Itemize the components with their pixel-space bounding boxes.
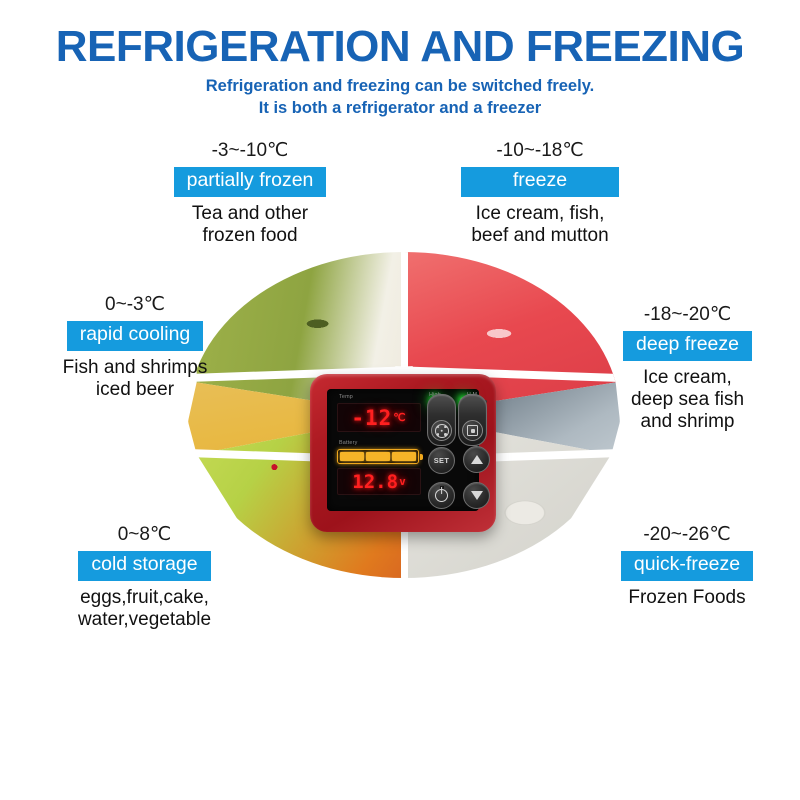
power-icon	[435, 489, 448, 502]
mode-description: eggs,fruit,cake, water,vegetable	[42, 587, 247, 632]
mode-desc-line-1: Ice cream, fish,	[440, 203, 640, 225]
mode-desc-line-2: water,vegetable	[42, 609, 247, 631]
temperature-display: -12℃	[337, 403, 421, 432]
battery-cell	[392, 452, 416, 461]
battery-cell	[340, 452, 364, 461]
mode-temp-range: 0~-3℃	[35, 294, 235, 317]
set-button[interactable]: SET	[428, 447, 455, 474]
page-title: REFRIGERATION AND FREEZING	[0, 24, 800, 70]
mode-desc-line-2: iced beer	[35, 379, 235, 401]
mode-temp-range: -20~-26℃	[592, 524, 782, 547]
mode-badge[interactable]: quick-freeze	[621, 551, 753, 581]
mode-desc-line-1: Tea and other	[150, 203, 350, 225]
mode-temp-range: -10~-18℃	[440, 140, 640, 163]
mode-badge[interactable]: deep freeze	[623, 331, 752, 361]
refrigerator-controller: Temp -12℃ Battery 12.8v H M L High Eco	[310, 374, 496, 532]
mode-badge[interactable]: cold storage	[78, 551, 210, 581]
mode-badge[interactable]: rapid cooling	[67, 321, 204, 351]
fan-blade	[437, 426, 439, 428]
infographic-canvas: REFRIGERATION AND FREEZING Refrigeration…	[0, 0, 800, 800]
mode-desc-line-1: eggs,fruit,cake,	[42, 587, 247, 609]
mode-temp-range: 0~8℃	[42, 524, 247, 547]
mode-description: Tea and other frozen food	[150, 203, 350, 248]
subtitle-line-1: Refrigeration and freezing can be switch…	[0, 76, 800, 98]
mode-label-cold-storage: 0~8℃ cold storage eggs,fruit,cake, water…	[42, 524, 247, 631]
temperature-value: -12	[351, 406, 392, 430]
voltage-display: 12.8v	[337, 468, 421, 495]
temp-label: Temp	[339, 394, 353, 400]
battery-label: Battery	[339, 440, 357, 446]
fan-mode-button[interactable]	[427, 394, 456, 446]
mode-desc-line-2: beef and mutton	[440, 225, 640, 247]
mode-description: Ice cream, fish, beef and mutton	[440, 203, 640, 248]
chevron-down-icon	[471, 491, 483, 500]
mode-badge[interactable]: freeze	[461, 167, 619, 197]
fan-blades-icon	[435, 424, 449, 438]
chevron-up-icon	[471, 455, 483, 464]
mode-desc-line-1: Ice cream,	[595, 367, 780, 389]
mode-desc-line-1: Fish and shrimps	[35, 357, 235, 379]
mode-description: Frozen Foods	[592, 587, 782, 609]
mode-desc-line-3: and shrimp	[595, 411, 780, 433]
battery-cell	[366, 452, 390, 461]
mode-label-quick-freeze: -20~-26℃ quick-freeze Frozen Foods	[592, 524, 782, 609]
voltage-unit: v	[399, 475, 406, 488]
mode-label-partially-frozen: -3~-10℃ partially frozen Tea and other f…	[150, 140, 350, 247]
mode-label-freeze: -10~-18℃ freeze Ice cream, fish, beef an…	[440, 140, 640, 247]
set-button-label: SET	[434, 456, 450, 465]
battery-level-icon	[337, 449, 419, 464]
temperature-unit: ℃	[393, 411, 406, 424]
fan-blade	[437, 433, 439, 435]
mode-temp-range: -3~-10℃	[150, 140, 350, 163]
mode-description: Ice cream, deep sea fish and shrimp	[595, 367, 780, 434]
fan-hub	[440, 429, 443, 432]
mode-description: Fish and shrimps iced beer	[35, 357, 235, 402]
mode-label-deep-freeze: -18~-20℃ deep freeze Ice cream, deep sea…	[595, 304, 780, 434]
up-button[interactable]	[463, 446, 490, 473]
mode-badge[interactable]: partially frozen	[174, 167, 327, 197]
mode-desc-line-2: deep sea fish	[595, 389, 780, 411]
subtitle-line-2: It is both a refrigerator and a freezer	[0, 98, 800, 120]
mode-desc-line-2: frozen food	[150, 225, 350, 247]
mode-desc-line-1: Frozen Foods	[592, 587, 782, 609]
down-button[interactable]	[463, 482, 490, 509]
page-subtitle: Refrigeration and freezing can be switch…	[0, 76, 800, 120]
uvp-button[interactable]	[458, 394, 487, 446]
mode-temp-range: -18~-20℃	[595, 304, 780, 327]
power-button[interactable]	[428, 482, 455, 509]
uvp-icon	[462, 420, 483, 441]
fan-blade	[444, 433, 446, 435]
fan-blade	[444, 426, 446, 428]
voltage-value: 12.8	[352, 471, 398, 493]
square-icon	[467, 425, 478, 436]
mode-label-rapid-cooling: 0~-3℃ rapid cooling Fish and shrimps ice…	[35, 294, 235, 401]
controller-panel: Temp -12℃ Battery 12.8v H M L High Eco	[327, 389, 479, 511]
fan-icon	[431, 420, 452, 441]
